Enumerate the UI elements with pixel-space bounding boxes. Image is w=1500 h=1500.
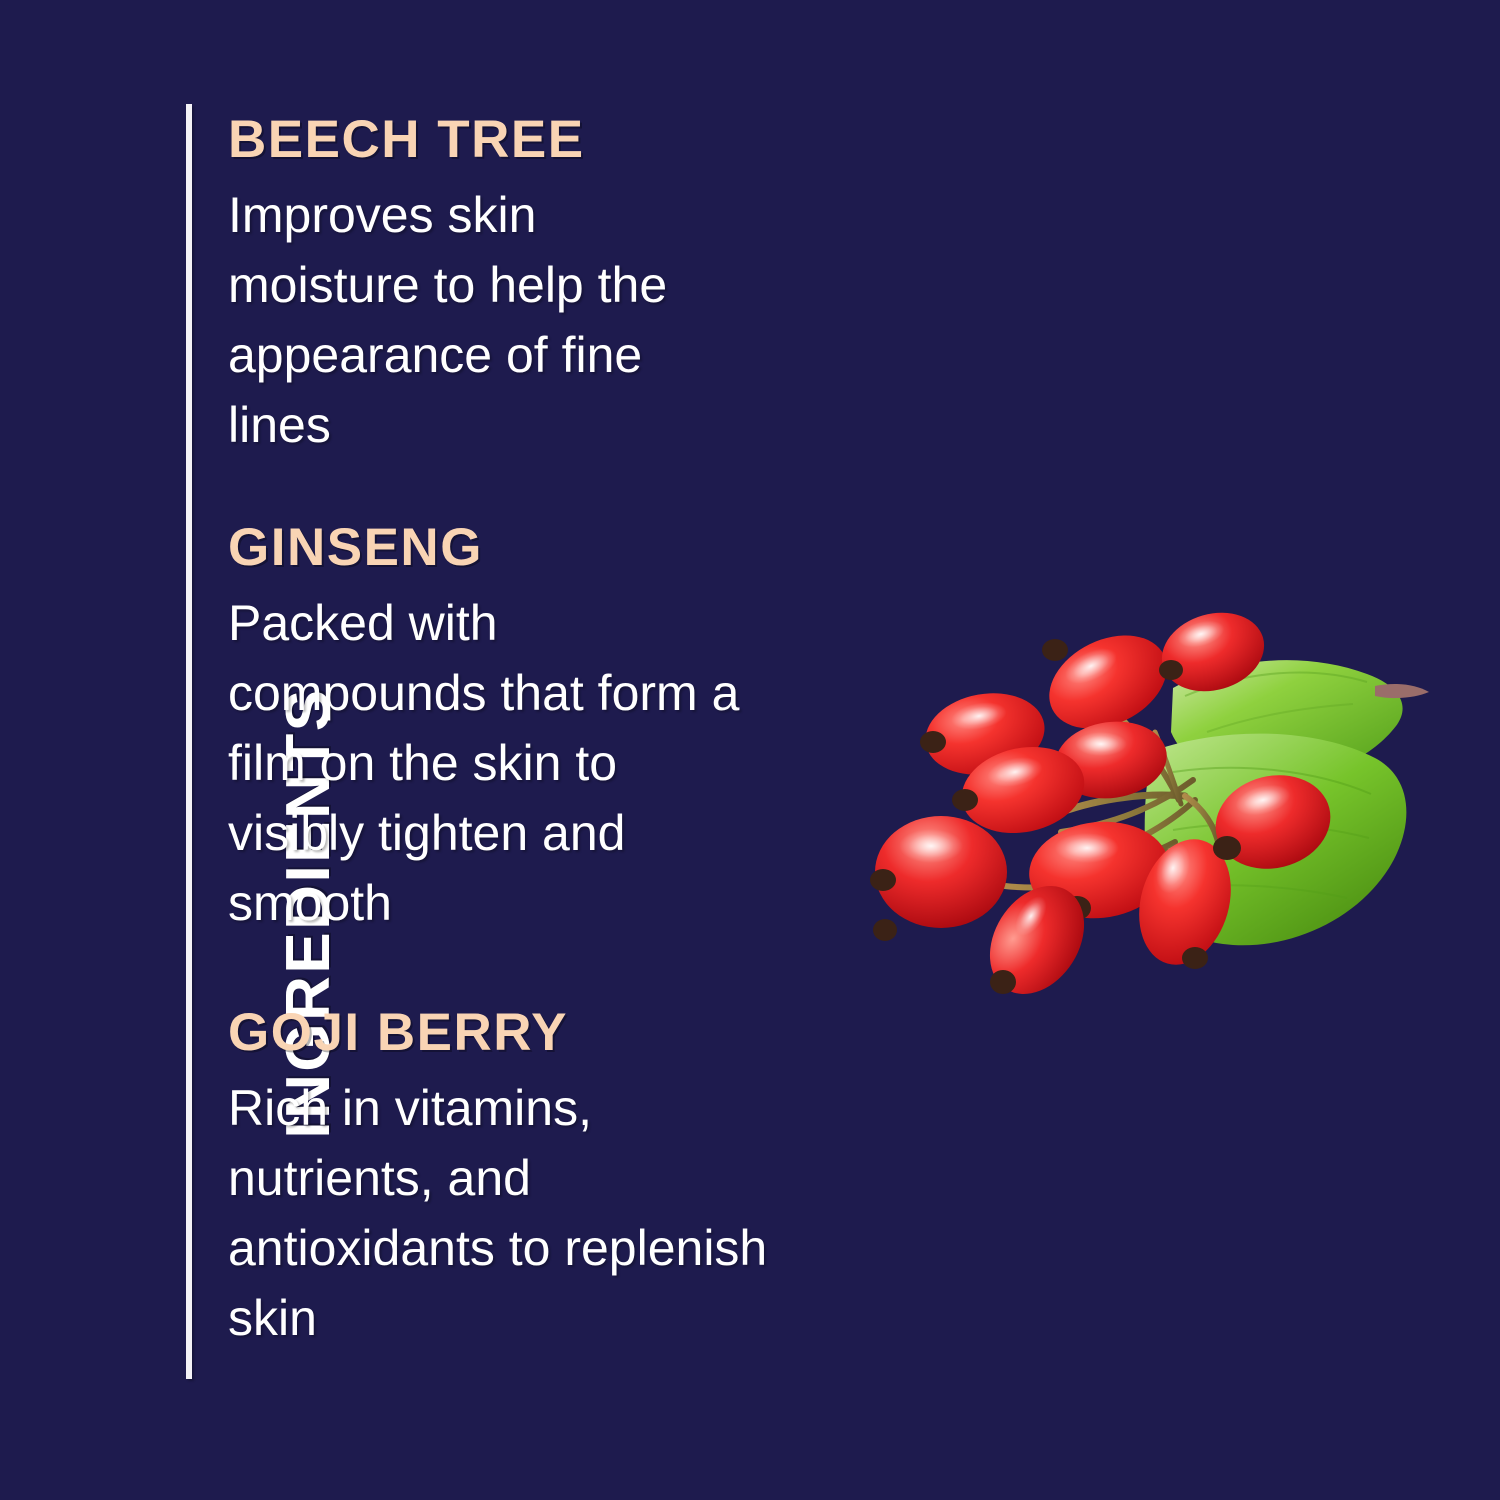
ingredient-description-ginseng: Packed with compounds that form a film o… xyxy=(228,576,928,938)
description-line: Improves skin xyxy=(228,180,868,250)
ingredient-block-goji-berry: GOJI BERRY Rich in vitamins, nutrients, … xyxy=(228,1005,928,1353)
description-line: visibly tighten and xyxy=(228,798,928,868)
description-line: appearance of fine xyxy=(228,320,868,390)
description-line: lines xyxy=(228,390,868,460)
goji-berry-cluster-photo xyxy=(855,600,1435,1000)
description-line: film on the skin to xyxy=(228,728,928,798)
ingredient-description-goji-berry: Rich in vitamins, nutrients, and antioxi… xyxy=(228,1061,928,1353)
ingredient-block-beech-tree: BEECH TREE Improves skin moisture to hel… xyxy=(228,112,868,460)
stem-tip xyxy=(1375,684,1429,698)
ingredient-heading-ginseng: GINSENG xyxy=(228,520,928,576)
ingredient-heading-goji-berry: GOJI BERRY xyxy=(228,1005,928,1061)
ingredient-description-beech-tree: Improves skin moisture to help the appea… xyxy=(228,168,868,460)
ingredient-heading-beech-tree: BEECH TREE xyxy=(228,112,868,168)
description-line: moisture to help the xyxy=(228,250,868,320)
ingredient-block-ginseng: GINSENG Packed with compounds that form … xyxy=(228,520,928,938)
description-line: Rich in vitamins, xyxy=(228,1073,928,1143)
ingredients-panel: INGREDIENTS BEECH TREE Improves skin moi… xyxy=(0,0,1500,1500)
berry xyxy=(870,816,1007,941)
description-line: skin xyxy=(228,1283,928,1353)
description-line: antioxidants to replenish xyxy=(228,1213,928,1283)
description-line: compounds that form a xyxy=(228,658,928,728)
description-line: smooth xyxy=(228,868,928,938)
description-line: nutrients, and xyxy=(228,1143,928,1213)
description-line: Packed with xyxy=(228,588,928,658)
vertical-divider xyxy=(186,104,192,1379)
